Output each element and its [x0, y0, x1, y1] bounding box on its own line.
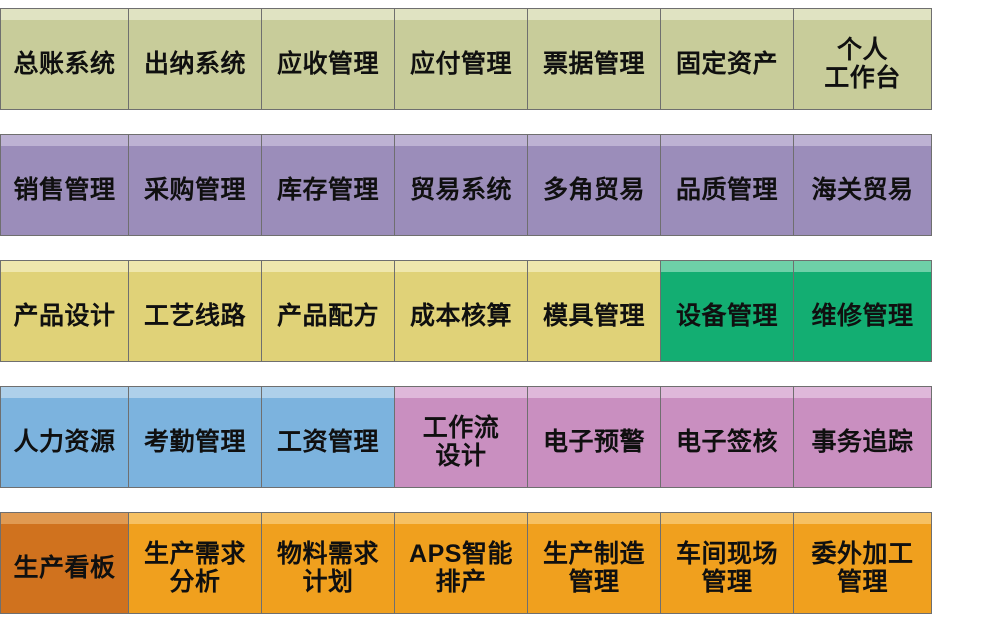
module-block-top-face — [128, 8, 262, 20]
module-block-label: 海关贸易 — [798, 176, 927, 204]
module-block[interactable]: 固定资产 — [660, 18, 793, 110]
module-block-top-face — [660, 134, 794, 146]
module-block-label: 生产制造 管理 — [532, 540, 656, 596]
module-block[interactable]: 出纳系统 — [128, 18, 261, 110]
module-block[interactable]: APS智能 排产 — [394, 522, 527, 614]
module-row: 总账系统出纳系统应收管理应付管理票据管理固定资产个人 工作台 — [0, 18, 1002, 110]
module-block-label: 应付管理 — [399, 50, 523, 78]
module-block-top-face — [394, 134, 528, 146]
module-block-top-face — [527, 134, 661, 146]
module-block-top-face — [0, 386, 129, 398]
module-block-top-face — [261, 386, 395, 398]
module-block-label: 总账系统 — [5, 50, 124, 78]
module-block[interactable]: 产品设计 — [0, 270, 128, 362]
module-block[interactable]: 生产看板 — [0, 522, 128, 614]
module-block-label: 物料需求 计划 — [266, 540, 390, 596]
module-block[interactable]: 海关贸易 — [793, 144, 932, 236]
module-block-top-face — [527, 260, 661, 272]
module-block-label: 车间现场 管理 — [665, 540, 789, 596]
module-block-label: 生产需求 分析 — [133, 540, 257, 596]
module-block-top-face — [261, 134, 395, 146]
module-block[interactable]: 电子预警 — [527, 396, 660, 488]
module-block[interactable]: 生产制造 管理 — [527, 522, 660, 614]
module-block[interactable]: 委外加工 管理 — [793, 522, 932, 614]
module-block-top-face — [660, 8, 794, 20]
module-block-label: 库存管理 — [266, 176, 390, 204]
module-block-top-face — [128, 260, 262, 272]
module-block-label: 出纳系统 — [133, 50, 257, 78]
module-block-label: 维修管理 — [798, 302, 927, 330]
module-block-label: 应收管理 — [266, 50, 390, 78]
module-block[interactable]: 多角贸易 — [527, 144, 660, 236]
module-block-top-face — [0, 512, 129, 524]
module-block[interactable]: 票据管理 — [527, 18, 660, 110]
module-block-top-face — [527, 386, 661, 398]
module-block[interactable]: 工作流 设计 — [394, 396, 527, 488]
module-block[interactable]: 事务追踪 — [793, 396, 932, 488]
module-block-label: 个人 工作台 — [798, 36, 927, 92]
module-block-label: 电子预警 — [532, 428, 656, 456]
module-block-label: 多角贸易 — [532, 176, 656, 204]
module-block-top-face — [128, 134, 262, 146]
module-block-label: 人力资源 — [5, 428, 124, 456]
module-block-label: 电子签核 — [665, 428, 789, 456]
module-block-label: 产品设计 — [5, 302, 124, 330]
module-block[interactable]: 库存管理 — [261, 144, 394, 236]
module-row: 产品设计工艺线路产品配方成本核算模具管理设备管理维修管理 — [0, 270, 1002, 362]
module-block-top-face — [527, 8, 661, 20]
module-block[interactable]: 维修管理 — [793, 270, 932, 362]
module-block-label: 工资管理 — [266, 428, 390, 456]
module-block-top-face — [660, 386, 794, 398]
module-block[interactable]: 应收管理 — [261, 18, 394, 110]
module-block[interactable]: 考勤管理 — [128, 396, 261, 488]
module-block-label: 贸易系统 — [399, 176, 523, 204]
module-block-label: 销售管理 — [5, 176, 124, 204]
module-row: 销售管理采购管理库存管理贸易系统多角贸易品质管理海关贸易 — [0, 144, 1002, 236]
module-row: 人力资源考勤管理工资管理工作流 设计电子预警电子签核事务追踪 — [0, 396, 1002, 488]
module-block[interactable]: 总账系统 — [0, 18, 128, 110]
module-block-top-face — [394, 386, 528, 398]
module-block[interactable]: 销售管理 — [0, 144, 128, 236]
module-row: 生产看板生产需求 分析物料需求 计划APS智能 排产生产制造 管理车间现场 管理… — [0, 522, 1002, 614]
module-block[interactable]: 设备管理 — [660, 270, 793, 362]
module-block-top-face — [128, 512, 262, 524]
module-block[interactable]: 电子签核 — [660, 396, 793, 488]
module-block-top-face — [0, 134, 129, 146]
module-block-top-face — [128, 386, 262, 398]
module-block-top-face — [793, 512, 932, 524]
module-block-label: 委外加工 管理 — [798, 540, 927, 596]
module-block[interactable]: 采购管理 — [128, 144, 261, 236]
module-block-top-face — [660, 260, 794, 272]
module-matrix-diagram: 总账系统出纳系统应收管理应付管理票据管理固定资产个人 工作台销售管理采购管理库存… — [0, 0, 1002, 621]
module-block-top-face — [394, 512, 528, 524]
module-block-label: 事务追踪 — [798, 428, 927, 456]
module-block-top-face — [793, 8, 932, 20]
module-block[interactable]: 工资管理 — [261, 396, 394, 488]
module-block-top-face — [261, 8, 395, 20]
module-block-label: 考勤管理 — [133, 428, 257, 456]
module-block-top-face — [660, 512, 794, 524]
module-block-label: 模具管理 — [532, 302, 656, 330]
module-block-top-face — [793, 386, 932, 398]
module-block-label: APS智能 排产 — [399, 540, 523, 596]
module-block-label: 设备管理 — [665, 302, 789, 330]
module-block-label: 工艺线路 — [133, 302, 257, 330]
module-block-top-face — [0, 260, 129, 272]
module-block-top-face — [0, 8, 129, 20]
module-block[interactable]: 产品配方 — [261, 270, 394, 362]
module-block-top-face — [261, 512, 395, 524]
module-block[interactable]: 应付管理 — [394, 18, 527, 110]
module-block-label: 工作流 设计 — [399, 414, 523, 470]
module-block[interactable]: 人力资源 — [0, 396, 128, 488]
module-block[interactable]: 物料需求 计划 — [261, 522, 394, 614]
module-block-label: 采购管理 — [133, 176, 257, 204]
module-block[interactable]: 贸易系统 — [394, 144, 527, 236]
module-block[interactable]: 成本核算 — [394, 270, 527, 362]
module-block-label: 票据管理 — [532, 50, 656, 78]
module-block[interactable]: 车间现场 管理 — [660, 522, 793, 614]
module-block-label: 生产看板 — [5, 554, 124, 582]
module-block-top-face — [527, 512, 661, 524]
module-block-label: 固定资产 — [665, 50, 789, 78]
module-block[interactable]: 工艺线路 — [128, 270, 261, 362]
module-block[interactable]: 模具管理 — [527, 270, 660, 362]
module-block-label: 产品配方 — [266, 302, 390, 330]
module-block-top-face — [793, 260, 932, 272]
module-block[interactable]: 生产需求 分析 — [128, 522, 261, 614]
module-block-label: 成本核算 — [399, 302, 523, 330]
module-block[interactable]: 个人 工作台 — [793, 18, 932, 110]
module-block-top-face — [394, 8, 528, 20]
module-block-label: 品质管理 — [665, 176, 789, 204]
module-block-top-face — [793, 134, 932, 146]
module-block-top-face — [394, 260, 528, 272]
module-block[interactable]: 品质管理 — [660, 144, 793, 236]
module-block-top-face — [261, 260, 395, 272]
